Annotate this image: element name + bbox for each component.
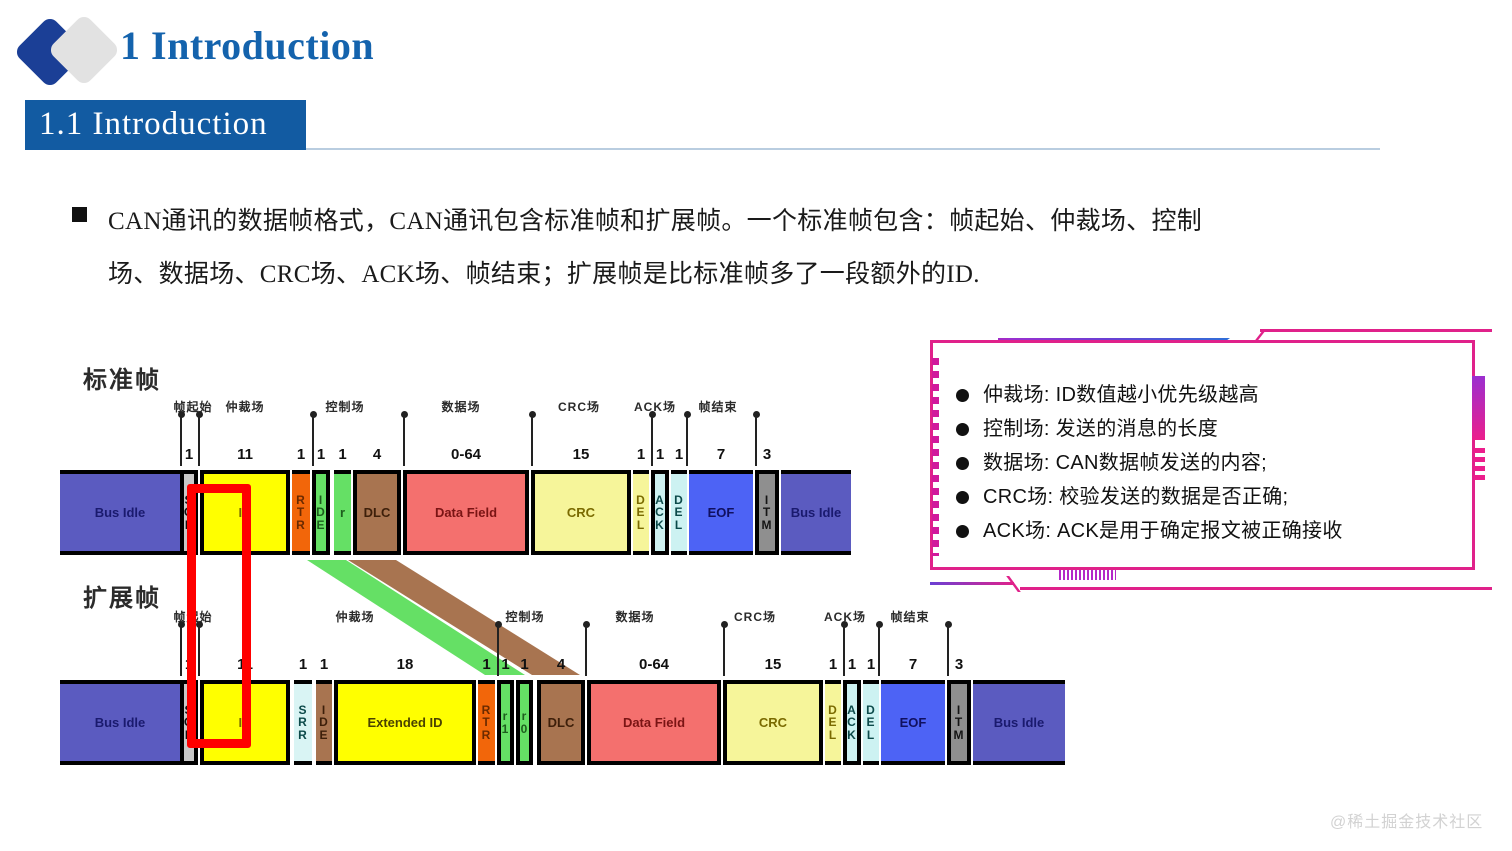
frame-cell-label: R T R	[482, 704, 492, 742]
callout-right-dash-4	[1474, 475, 1485, 480]
frame-cell: A C K	[843, 680, 861, 765]
frame-leader-line	[497, 624, 499, 676]
frame-cell-label: CRC	[567, 505, 595, 520]
frame-leader-line	[947, 624, 949, 676]
callout-item-list: 仲裁场: ID数值越小优先级越高控制场: 发送的消息的长度数据场: CAN数据帧…	[956, 380, 1456, 550]
frame-cell-label: Bus Idle	[95, 505, 146, 520]
bullet-dot-icon	[956, 389, 969, 402]
callout-list-item: ACK场: ACK是用于确定报文被正确接收	[956, 516, 1456, 547]
callout-item-text: 控制场: 发送的消息的长度	[983, 414, 1218, 445]
frame-leader-line	[585, 624, 587, 676]
frame-bit-count: 4	[537, 656, 585, 673]
frame-bit-count: 1	[478, 656, 495, 673]
frame-bit-count: 7	[881, 656, 945, 673]
bullet-dot-icon	[956, 423, 969, 436]
frame-group-label: 仲裁场	[325, 608, 385, 625]
callout-left-dotted-rail	[932, 358, 939, 556]
bullet-dot-icon	[956, 525, 969, 538]
callout-list-item: 仲裁场: ID数值越小优先级越高	[956, 380, 1456, 411]
frame-cell: I T M	[947, 680, 971, 765]
frame-cell-label: A C K	[655, 494, 665, 532]
frame-cell: I T M	[755, 470, 779, 555]
bullet-line-1: CAN通讯的数据帧格式，CAN通讯包含标准帧和扩展帧。一个标准帧包含：帧起始、仲…	[108, 195, 1362, 248]
frame-bit-count: 11	[200, 446, 290, 463]
frame-leader-dot	[721, 621, 728, 628]
frame-leader-dot	[529, 411, 536, 418]
section-divider	[306, 148, 1380, 150]
frame-cell-label: Bus Idle	[994, 715, 1045, 730]
frame-leader-dot	[753, 411, 760, 418]
frame-cell-label: I D E	[319, 704, 329, 742]
frame-leader-line	[531, 414, 533, 466]
frame-leader-line	[686, 414, 688, 466]
frame-bit-count: 1	[294, 656, 312, 673]
frame-leader-dot	[178, 411, 185, 418]
frame-cell-label: D E L	[866, 704, 876, 742]
callout-right-dash-3	[1474, 466, 1485, 471]
frame-cell: Data Field	[587, 680, 721, 765]
bullet-line-2: 场、数据场、CRC场、ACK场、帧结束；扩展帧是比标准帧多了一段额外的ID.	[108, 248, 1362, 301]
frame-cell-label: Extended ID	[367, 715, 442, 730]
frame-cell: I D E	[316, 680, 332, 765]
frame-cell: A C K	[651, 470, 669, 555]
frame-leader-line	[198, 414, 200, 466]
page-title: 1 Introduction	[120, 22, 374, 69]
frame-cell: D E L	[825, 680, 841, 765]
frame-leader-dot	[196, 411, 203, 418]
frame-bit-count: 15	[531, 446, 631, 463]
frame-bit-count: 18	[334, 656, 476, 673]
frame-cell-label: r	[340, 505, 345, 520]
id-field-highlight	[187, 484, 251, 748]
frame-cell-label: r 1	[502, 710, 510, 735]
slide-logo	[18, 16, 122, 88]
frame-leader-dot	[649, 411, 656, 418]
frame-cell: Data Field	[403, 470, 529, 555]
callout-barcode-decoration	[1059, 570, 1116, 580]
frame-bit-count: 1	[292, 446, 310, 463]
bullet-dot-icon	[956, 491, 969, 504]
frame-bit-count: 1	[180, 446, 198, 463]
frame-cell-label: Data Field	[623, 715, 685, 730]
frame-cell-label: DLC	[548, 715, 575, 730]
callout-list-item: 数据场: CAN数据帧发送的内容;	[956, 448, 1456, 479]
frame-leader-dot	[401, 411, 408, 418]
frame-cell-label: CRC	[759, 715, 787, 730]
frame-leader-line	[180, 414, 182, 466]
frame-cell: R T R	[292, 470, 310, 555]
frame-bit-count: 1	[497, 656, 514, 673]
frame-leader-line	[878, 624, 880, 676]
frame-bit-count: 1	[633, 446, 649, 463]
frame-cell-label: EOF	[900, 715, 927, 730]
frame-cell: r	[334, 470, 351, 555]
frame-bit-count: 3	[947, 656, 971, 673]
callout-item-text: 数据场: CAN数据帧发送的内容;	[983, 448, 1267, 479]
frame-bit-count: 4	[353, 446, 401, 463]
frame-bit-count: 1	[863, 656, 879, 673]
frame-cell: r 1	[497, 680, 514, 765]
frame-cell-label: I T M	[954, 704, 965, 742]
frame-group-label: CRC场	[725, 608, 785, 625]
body-bullet: CAN通讯的数据帧格式，CAN通讯包含标准帧和扩展帧。一个标准帧包含：帧起始、仲…	[72, 195, 1362, 301]
frame-cell: DLC	[537, 680, 585, 765]
frame-bit-count: 1	[312, 446, 330, 463]
slide-canvas: 1 Introduction 1.1 Introduction CAN通讯的数据…	[0, 0, 1512, 851]
watermark: @稀土掘金技术社区	[1330, 808, 1483, 832]
frame-bit-count: 3	[755, 446, 779, 463]
frame-cell: Bus Idle	[60, 470, 180, 555]
frame-leader-dot	[841, 621, 848, 628]
frame-leader-line	[180, 624, 182, 676]
bullet-dot-icon	[956, 457, 969, 470]
section-header-bar: 1.1 Introduction	[25, 100, 306, 150]
callout-top-line-right	[1260, 329, 1492, 332]
frame-group-label: 数据场	[605, 608, 665, 625]
frame-cell-label: Bus Idle	[791, 505, 842, 520]
bullet-square-icon	[72, 207, 87, 222]
callout-item-text: 仲裁场: ID数值越小优先级越高	[983, 380, 1259, 411]
frame-bit-count: 1	[316, 656, 332, 673]
frame-bit-count: 7	[689, 446, 753, 463]
annotation-callout: 仲裁场: ID数值越小优先级越高控制场: 发送的消息的长度数据场: CAN数据帧…	[912, 318, 1492, 590]
frame-leader-line	[843, 624, 845, 676]
frame-leader-dot	[945, 621, 952, 628]
frame-group-label: 帧结束	[880, 608, 940, 625]
frame-cell: CRC	[723, 680, 823, 765]
standard-frame-title: 标准帧	[83, 360, 161, 395]
frame-cell-label: A C K	[847, 704, 857, 742]
frame-cell: S R R	[294, 680, 312, 765]
frame-cell-label: D E L	[674, 494, 684, 532]
section-title: 1.1 Introduction	[39, 106, 268, 143]
frame-cell-label: R T R	[296, 494, 306, 532]
frame-cell: r 0	[516, 680, 533, 765]
frame-bit-count: 1	[516, 656, 533, 673]
frame-cell-label: I D E	[316, 494, 326, 532]
callout-right-dash-1	[1474, 448, 1485, 453]
frame-cell: D E L	[633, 470, 649, 555]
frame-cell: D E L	[671, 470, 687, 555]
frame-cell: EOF	[689, 470, 753, 555]
frame-group-label: 控制场	[495, 608, 555, 625]
frame-leader-line	[312, 414, 314, 466]
frame-cell-label: EOF	[708, 505, 735, 520]
frame-cell-label: Data Field	[435, 505, 497, 520]
frame-leader-dot	[495, 621, 502, 628]
frame-bit-count: 0-64	[587, 656, 721, 673]
frame-cell: DLC	[353, 470, 401, 555]
frame-group-label: 帧起始	[163, 398, 223, 415]
frame-cell-label: D E L	[636, 494, 646, 532]
frame-leader-line	[403, 414, 405, 466]
frame-bit-count: 1	[843, 656, 861, 673]
frame-group-label: 帧结束	[688, 398, 748, 415]
frame-bit-count: 1	[825, 656, 841, 673]
frame-cell-label: I T M	[762, 494, 773, 532]
frame-group-label: 控制场	[315, 398, 375, 415]
frame-bit-count: 1	[334, 446, 351, 463]
frame-cell: Bus Idle	[60, 680, 180, 765]
callout-item-text: ACK场: ACK是用于确定报文被正确接收	[983, 516, 1343, 547]
frame-cell-label: Bus Idle	[95, 715, 146, 730]
frame-leader-line	[755, 414, 757, 466]
frame-leader-dot	[178, 621, 185, 628]
callout-item-text: CRC场: 校验发送的数据是否正确;	[983, 482, 1288, 513]
frame-bit-count: 1	[671, 446, 687, 463]
frame-cell: Bus Idle	[781, 470, 851, 555]
callout-list-item: CRC场: 校验发送的数据是否正确;	[956, 482, 1456, 513]
frame-cell: Extended ID	[334, 680, 476, 765]
frame-cell-label: D E L	[828, 704, 838, 742]
extended-frame-title: 扩展帧	[83, 578, 161, 613]
frame-group-label: CRC场	[549, 398, 609, 415]
frame-leader-line	[723, 624, 725, 676]
frame-leader-dot	[310, 411, 317, 418]
frame-cell-label: S R R	[298, 704, 308, 742]
callout-bottom-line-left	[930, 582, 1014, 585]
frame-cell: D E L	[863, 680, 879, 765]
frame-group-label: 仲裁场	[215, 398, 275, 415]
frame-bit-count: 0-64	[403, 446, 529, 463]
callout-list-item: 控制场: 发送的消息的长度	[956, 414, 1456, 445]
frame-cell: Bus Idle	[973, 680, 1065, 765]
frame-leader-dot	[583, 621, 590, 628]
frame-cell: CRC	[531, 470, 631, 555]
frame-bit-count: 1	[651, 446, 669, 463]
frame-group-label: 数据场	[431, 398, 491, 415]
callout-bottom-line-right	[1020, 587, 1492, 590]
frame-cell-label: r 0	[521, 710, 529, 735]
frame-cell-label: DLC	[364, 505, 391, 520]
frame-cell: EOF	[881, 680, 945, 765]
frame-bit-count: 15	[723, 656, 823, 673]
frame-cell: I D E	[312, 470, 330, 555]
frame-cell: R T R	[478, 680, 495, 765]
callout-right-dash-2	[1474, 457, 1485, 462]
callout-right-gradient-bar	[1472, 376, 1485, 440]
frame-leader-line	[651, 414, 653, 466]
